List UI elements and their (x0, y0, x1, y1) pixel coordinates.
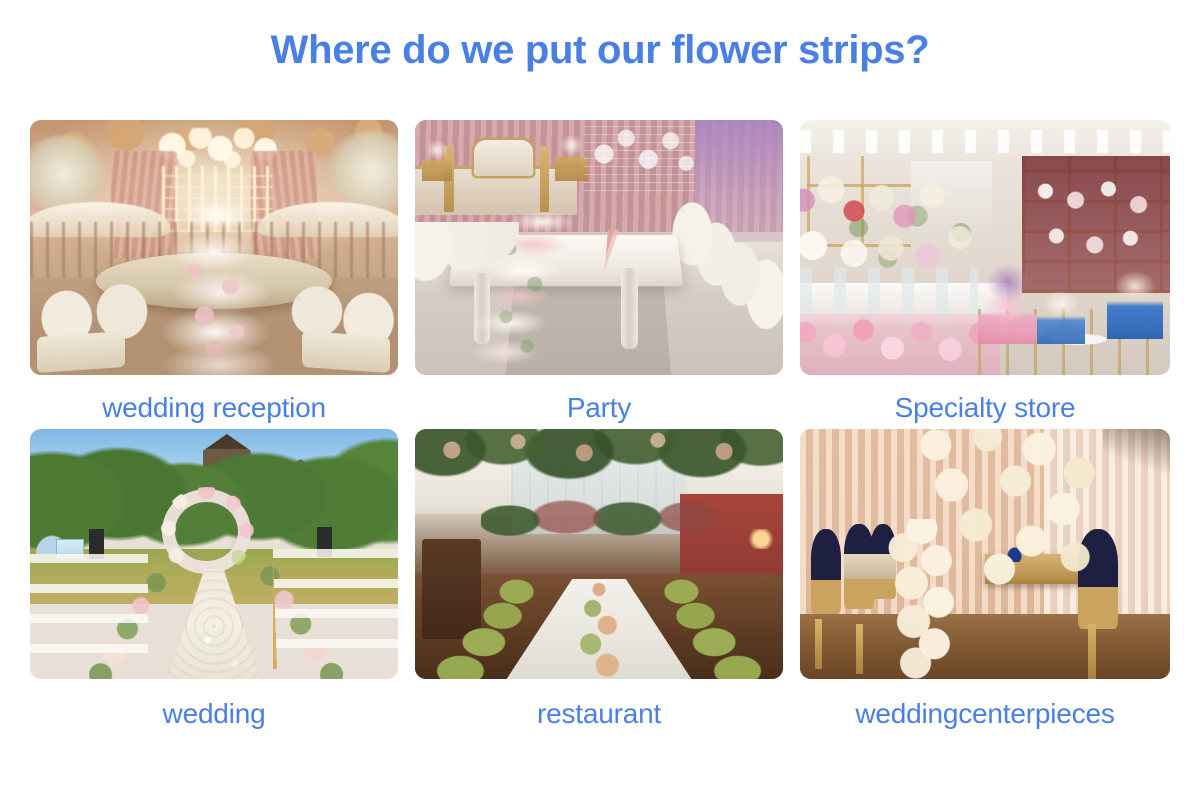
photo-wedding[interactable] (30, 429, 398, 679)
chair-gold-frames-left (415, 278, 533, 365)
pedestal-vase-right (555, 135, 588, 181)
shelf-products (1029, 171, 1166, 283)
table-leg-back (621, 268, 638, 350)
photo-wedding-reception[interactable] (30, 120, 398, 375)
caption-weddingcenterpieces: weddingcenterpieces (800, 679, 1170, 735)
throne-sofa (474, 140, 533, 176)
gallery-item-wedding-reception[interactable]: wedding reception (30, 120, 398, 429)
chair-seat-left (37, 331, 125, 373)
photo-restaurant[interactable] (415, 429, 783, 679)
image-gallery-grid: wedding reception (30, 120, 1170, 735)
page-title: Where do we put our flower strips? (0, 24, 1200, 76)
photo-party[interactable] (415, 120, 783, 375)
arch-flowers (159, 487, 255, 577)
caption-party: Party (415, 375, 783, 429)
gallery-item-weddingcenterpieces[interactable]: weddingcenterpieces (800, 429, 1170, 735)
hanging-glass-globes (584, 125, 694, 191)
pedestal-vase-left (422, 140, 451, 181)
chair-leg-3 (1088, 624, 1096, 679)
photo-specialty-store[interactable] (800, 120, 1170, 375)
caption-wedding: wedding (30, 679, 398, 735)
bouquet-blue-small (1037, 288, 1085, 344)
bouquet-blue (1107, 268, 1163, 339)
navy-gold-chair-1 (811, 529, 841, 614)
caption-specialty-store: Specialty store (800, 375, 1170, 429)
caption-restaurant: restaurant (415, 679, 783, 735)
hanging-floral-mid (481, 499, 717, 544)
spotlight-track-icon (800, 130, 1170, 153)
flower-cascade (874, 519, 978, 679)
gold-pillar-right (540, 146, 549, 212)
hanging-blooms (415, 429, 783, 499)
pink-rose-wall (800, 314, 1000, 375)
photo-weddingcenterpieces[interactable] (800, 429, 1170, 679)
chair-leg-2 (856, 624, 863, 674)
chair-leg-1 (815, 619, 822, 669)
guest-chairs-left (30, 554, 148, 669)
gallery-item-restaurant[interactable]: restaurant (415, 429, 783, 735)
gallery-item-wedding[interactable]: wedding (30, 429, 398, 735)
wall-lamp-icon (746, 529, 775, 549)
drape-shadow (1103, 429, 1170, 474)
guest-chairs-right (273, 549, 398, 669)
slide-page: Where do we put our flower strips? (0, 0, 1200, 800)
gallery-item-specialty-store[interactable]: Specialty store (800, 120, 1170, 429)
chair-seat-right (302, 331, 390, 373)
caption-wedding-reception: wedding reception (30, 375, 398, 429)
bouquet-pink (978, 263, 1037, 345)
gallery-item-party[interactable]: Party (415, 120, 783, 429)
